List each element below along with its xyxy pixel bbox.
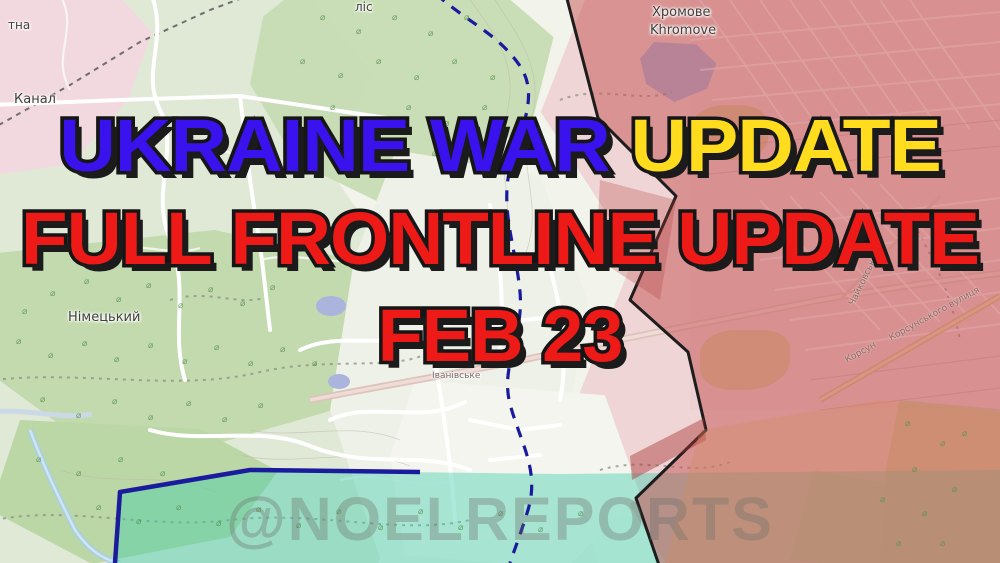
label-khromove-en: Khromove [650, 23, 716, 38]
label-lis: ліс [355, 0, 373, 14]
title-line-1: UKRAINE WAR UPDATE [0, 103, 1000, 188]
title-line-1-blue: UKRAINE WAR [59, 104, 630, 187]
thumbnail-image: ⌀ ⌀ ⌀ ⌀ ⌀ ⌀ ⌀ ⌀ ⌀ ⌀ ⌀ ⌀ ⌀ ⌀ ⌀ ⌀ ⌀ ⌀ ⌀ ⌀ … [0, 0, 1000, 563]
title-line-3: FEB 23 [0, 293, 1000, 378]
label-khromove-ua: Хромове [652, 5, 711, 20]
label-tna: тна [8, 18, 30, 32]
title-line-1-yellow: UPDATE [630, 104, 940, 187]
channel-watermark: @NOELREPORTS [0, 484, 1000, 554]
title-line-2: FULL FRONTLINE UPDATE [0, 196, 1000, 281]
